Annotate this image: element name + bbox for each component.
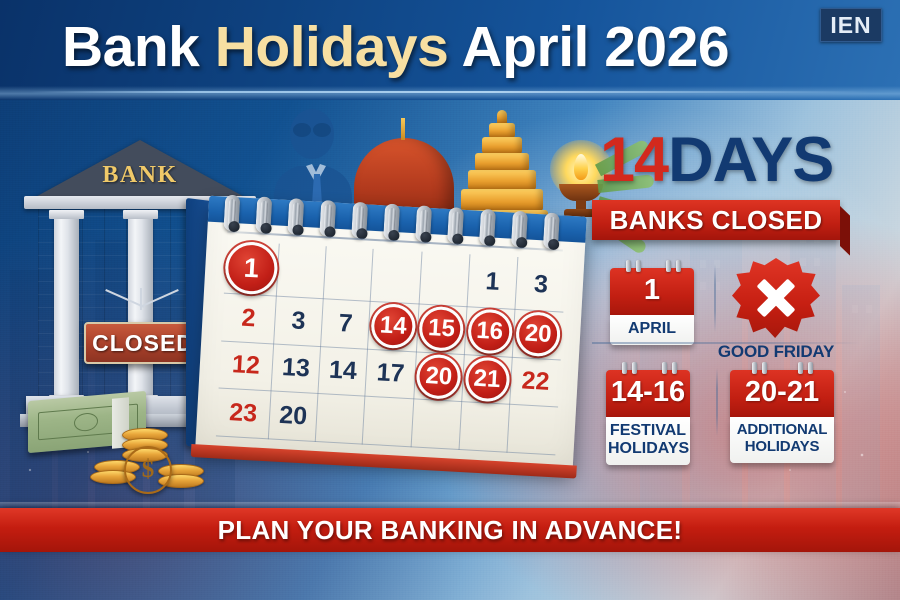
calendar-cell-holiday: 20 — [413, 351, 464, 401]
calendar-cell-date: 1 — [467, 254, 518, 309]
holiday-card-additional: 20-21 ADDITIONAL HOLIDAYS — [730, 362, 834, 463]
holiday-card-date: 14-16 — [606, 370, 690, 417]
calendar-cell-empty — [459, 402, 510, 452]
holiday-card-date: 1 — [610, 268, 694, 315]
footer-cta-label: PLAN YOUR BANKING IN ADVANCE! — [218, 515, 683, 546]
calendar-cell-date: 3 — [274, 296, 324, 346]
infographic-canvas: Bank Holidays April 2026 IEN — [0, 0, 900, 600]
calendar-cell-empty — [276, 244, 326, 299]
dollar-coin-icon: $ — [124, 446, 172, 494]
closed-sign-label: CLOSED — [92, 330, 194, 357]
bank-column — [54, 218, 79, 396]
card-divider-vertical — [714, 264, 716, 332]
calendar-cell-holiday: 1 — [224, 241, 279, 296]
title-word-month-year: April 2026 — [462, 15, 729, 79]
card-rings — [610, 260, 694, 270]
holiday-card-label-line2: HOLIDAYS — [608, 440, 688, 458]
holiday-card-label: ADDITIONAL HOLIDAYS — [730, 417, 834, 463]
calendar-cell-holiday: 21 — [462, 354, 513, 404]
calendar-cell-date: 7 — [321, 299, 371, 349]
summary-panel: 14DAYS BANKS CLOSED 1 APRIL GOOD FRIDAY — [592, 124, 892, 464]
holiday-marker: 14 — [370, 303, 416, 349]
holiday-marker: 16 — [466, 309, 512, 355]
calendar-cell-holiday: 15 — [416, 304, 467, 354]
banks-closed-label: BANKS CLOSED — [610, 205, 823, 236]
holiday-count-number: 14 — [600, 125, 668, 195]
calendar-grid-area: 11323714151620121314172021222320 — [216, 241, 566, 450]
holiday-card-label-line1: FESTIVAL — [608, 422, 688, 440]
card-rings — [606, 362, 690, 372]
calendar-cell-date: 13 — [271, 343, 321, 393]
calendar-cell-date: 3 — [515, 257, 566, 312]
holiday-card-label-line2: HOLIDAYS — [732, 439, 832, 456]
closed-sign: CLOSED — [84, 322, 202, 364]
calendar-cell-holiday: 16 — [464, 307, 515, 357]
calendar-cell-date: 17 — [365, 349, 416, 399]
title-word-holidays: Holidays — [215, 15, 449, 79]
good-friday-badge: GOOD FRIDAY — [732, 258, 835, 362]
holiday-count-headline: 14DAYS — [600, 124, 833, 196]
holiday-marker: 20 — [416, 353, 462, 399]
holiday-marker: 15 — [418, 306, 464, 352]
footer-cta-banner: PLAN YOUR BANKING IN ADVANCE! — [0, 508, 900, 552]
money-illustration: $ — [28, 388, 208, 480]
ien-logo: IEN — [820, 8, 882, 42]
calendar-cell-empty — [323, 246, 373, 301]
holiday-card-label: APRIL — [610, 315, 694, 345]
holiday-card-festival: 14-16 FESTIVAL HOLIDAYS — [606, 362, 690, 465]
holiday-card-date: 20-21 — [730, 370, 834, 417]
calendar-cell-empty — [411, 399, 462, 449]
calendar-cell-empty — [315, 394, 365, 444]
banks-closed-banner: BANKS CLOSED — [592, 200, 840, 240]
calendar-cell-date: 12 — [219, 341, 274, 391]
calendar-cell-empty — [363, 396, 414, 446]
card-divider-vertical — [716, 368, 718, 436]
calendar-cell-holiday: 20 — [512, 309, 563, 359]
card-rings — [730, 362, 814, 372]
holiday-count-unit: DAYS — [668, 125, 833, 195]
calendar-cell-empty — [507, 404, 558, 454]
header-divider — [30, 91, 870, 93]
calendar-cell-date: 14 — [318, 346, 368, 396]
good-friday-label: GOOD FRIDAY — [717, 342, 835, 362]
holiday-marker: 1 — [224, 241, 279, 296]
page-title: Bank Holidays April 2026 — [62, 14, 729, 80]
title-word-bank: Bank — [62, 15, 199, 79]
holiday-card-april-1: 1 APRIL — [610, 260, 694, 345]
calendar-date-table: 11323714151620121314172021222320 — [216, 241, 566, 455]
bank-label: BANK — [24, 162, 256, 189]
holiday-card-label-line1: ADDITIONAL — [732, 422, 832, 439]
calendar-cell-date: 22 — [510, 357, 561, 407]
panel-divider-horizontal — [592, 342, 860, 344]
calendar-cell-empty — [419, 252, 470, 307]
calendar-cell-date: 23 — [216, 388, 271, 438]
header-bar: Bank Holidays April 2026 IEN — [0, 0, 900, 100]
calendar-cell-holiday: 14 — [368, 301, 419, 351]
holiday-marker: 21 — [464, 356, 510, 402]
desk-calendar: 11323714151620121314172021222320 — [186, 196, 586, 486]
cross-icon — [732, 258, 820, 338]
holiday-marker: 20 — [515, 311, 561, 357]
calendar-cell-empty — [370, 249, 421, 304]
holiday-card-label: FESTIVAL HOLIDAYS — [606, 417, 690, 465]
calendar-cell-date: 20 — [268, 391, 318, 441]
calendar-page: 11323714151620121314172021222320 — [195, 196, 586, 469]
calendar-cell-date: 2 — [221, 293, 276, 343]
